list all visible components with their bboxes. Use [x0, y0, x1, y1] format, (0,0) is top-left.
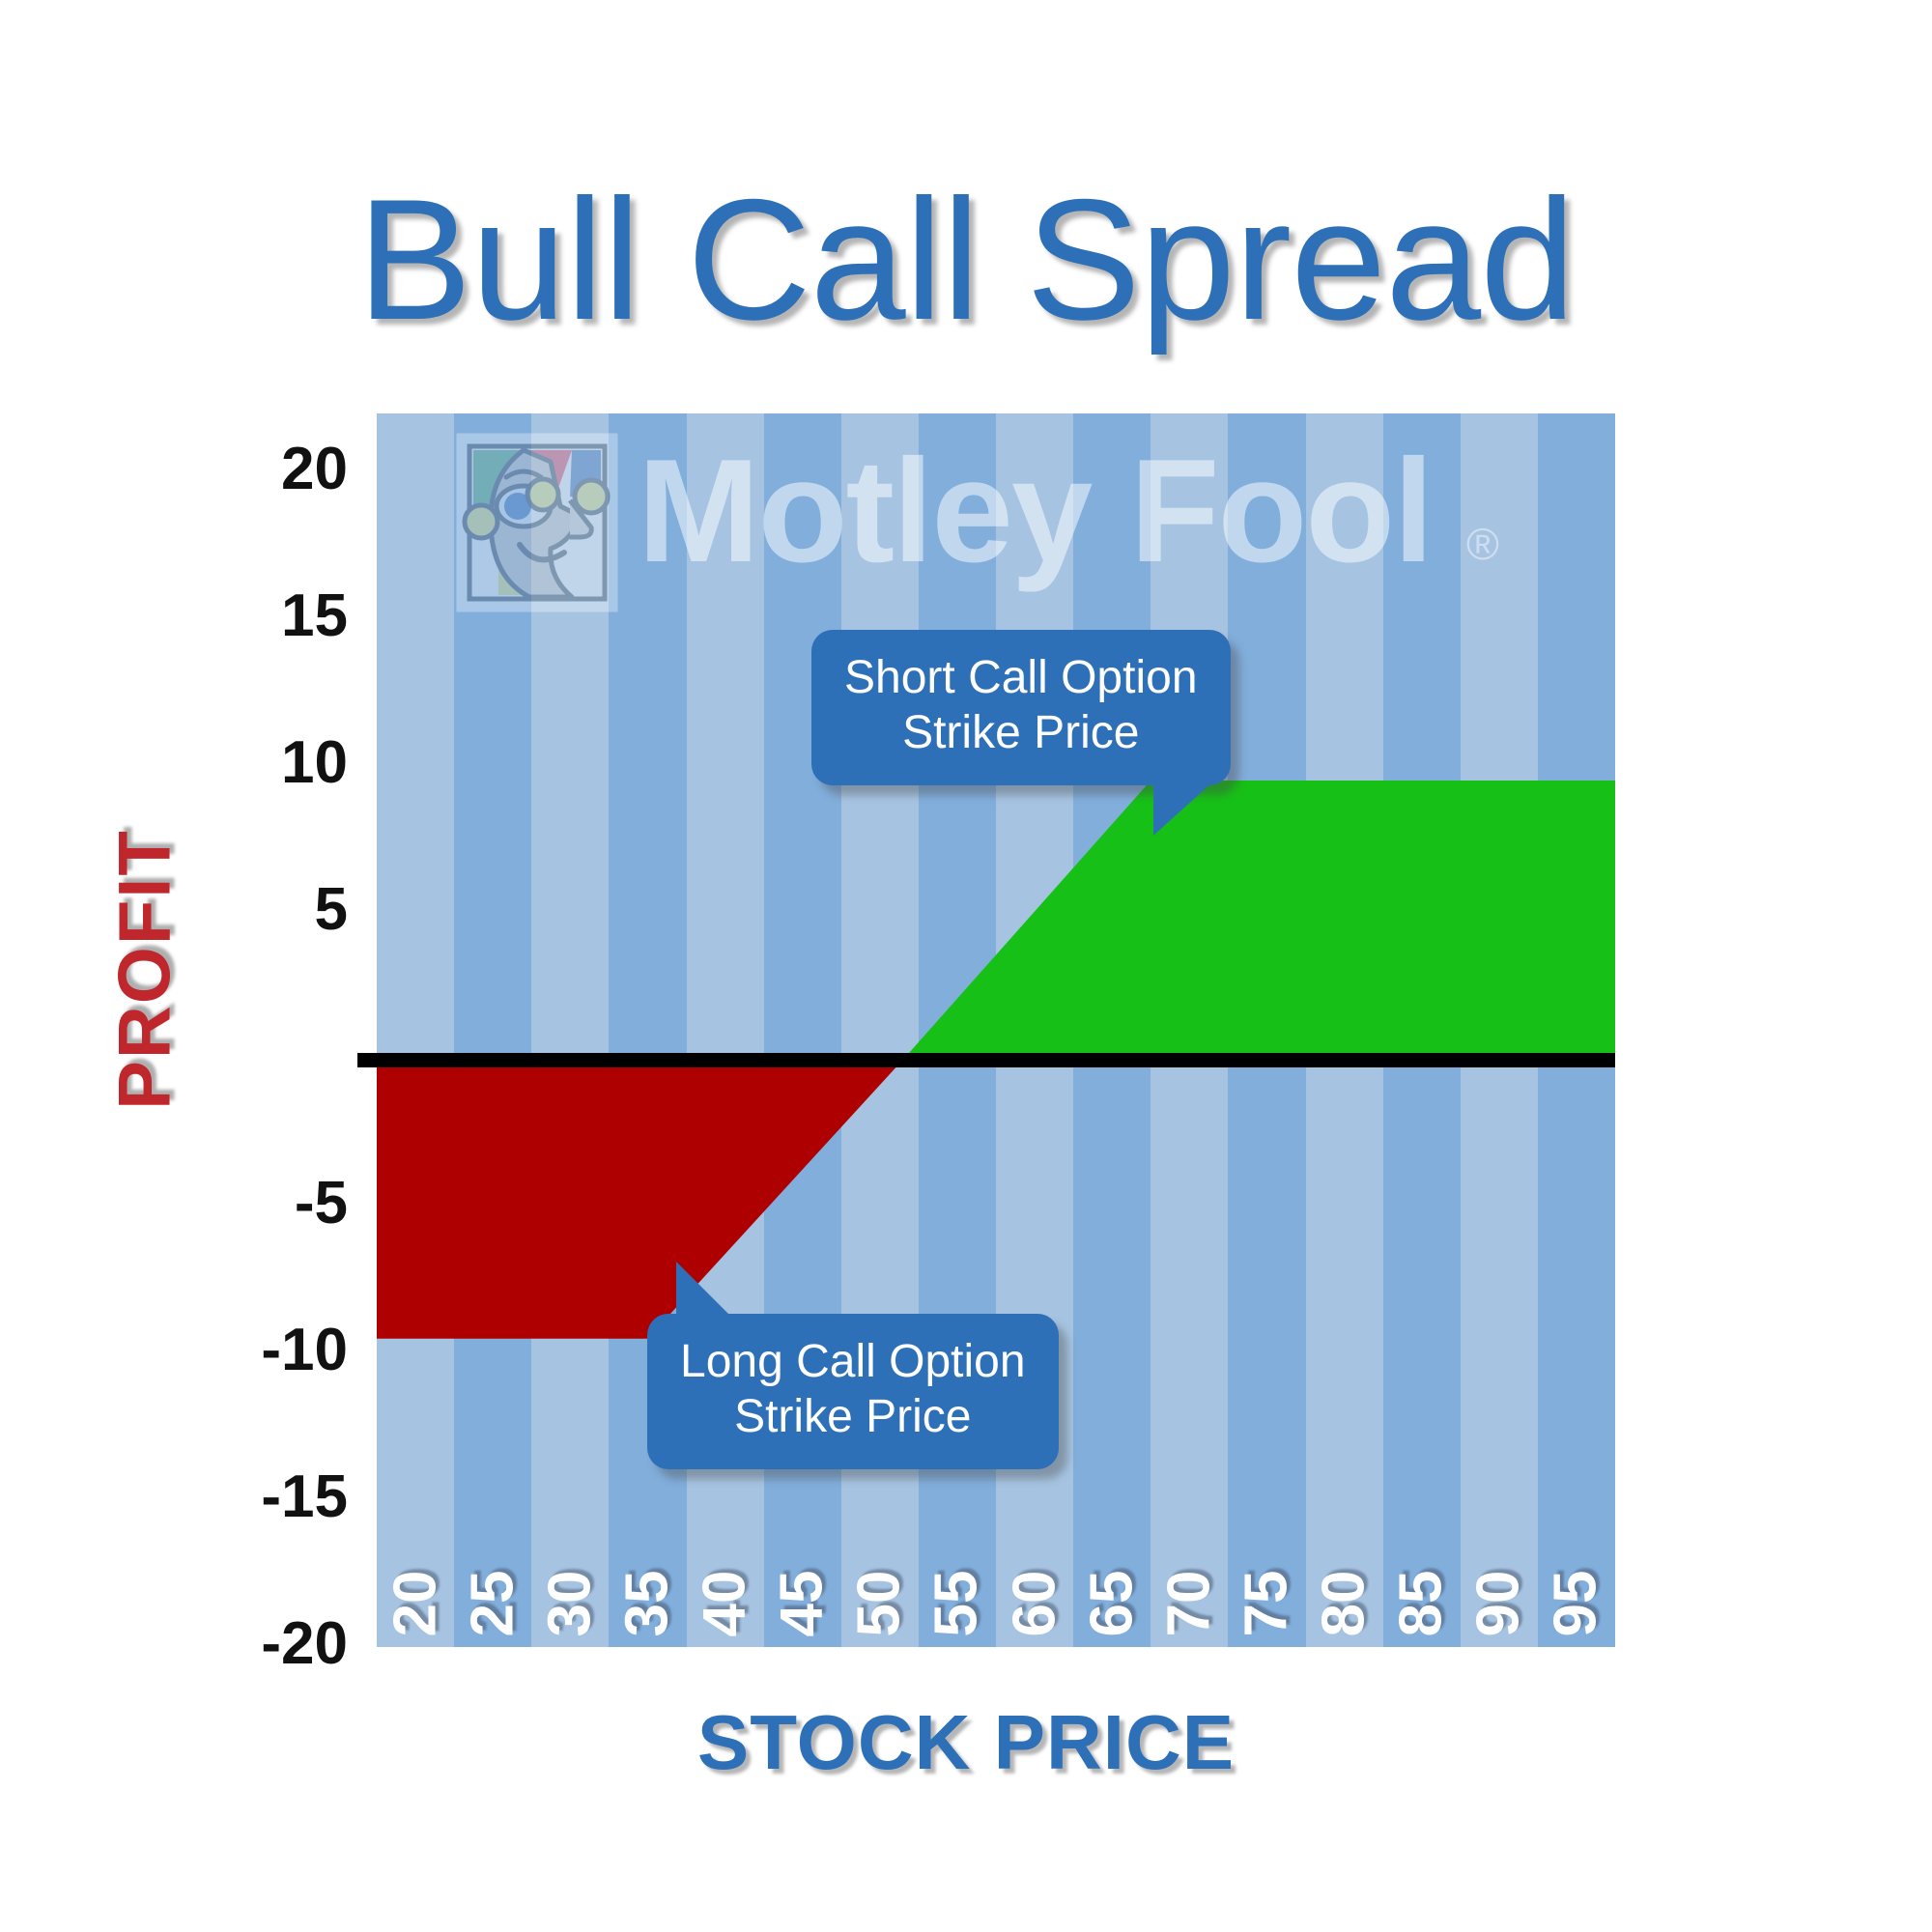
x-axis-tick-text: 25: [463, 1571, 523, 1637]
x-axis-tick-text: 30: [540, 1571, 600, 1637]
x-axis-tick-label: 80: [1306, 1574, 1383, 1634]
callout-tail-icon: [1153, 781, 1213, 836]
x-axis-tick-label: 40: [687, 1574, 764, 1634]
x-axis-tick-label: 35: [609, 1574, 686, 1634]
callout-long-line1: Long Call Option: [680, 1335, 1026, 1390]
callout-long-line2: Strike Price: [680, 1390, 1026, 1445]
x-axis-label: STOCK PRICE: [0, 1698, 1932, 1787]
y-axis-tick-label: -5: [193, 1174, 348, 1234]
x-axis-tick-label: 95: [1538, 1574, 1615, 1634]
y-axis-tick-label: -15: [193, 1467, 348, 1527]
callout-long-call[interactable]: Long Call Option Strike Price: [647, 1314, 1059, 1469]
x-axis-tick-text: 85: [1392, 1571, 1452, 1637]
loss-region: [377, 1060, 903, 1339]
x-axis-tick-label: 65: [1073, 1574, 1151, 1634]
x-axis-tick-label: 25: [454, 1574, 531, 1634]
chart-figure: Bull Call Spread: [0, 0, 1932, 1932]
x-axis-tick-text: 75: [1236, 1571, 1296, 1637]
callout-short-line1: Short Call Option: [844, 651, 1198, 706]
y-axis-tick-label: -20: [193, 1614, 348, 1674]
callout-short-line2: Strike Price: [844, 706, 1198, 761]
x-axis-tick-label: 20: [377, 1574, 454, 1634]
x-axis-tick-text: 60: [1005, 1571, 1065, 1637]
x-axis-tick-text: 70: [1159, 1571, 1219, 1637]
x-axis-tick-label: 30: [531, 1574, 609, 1634]
y-axis-label: PROFIT: [103, 767, 187, 1173]
x-axis-tick-text: 35: [617, 1571, 677, 1637]
y-axis-tick-label: 10: [193, 733, 348, 793]
x-axis-tick-text: 20: [385, 1571, 445, 1637]
x-axis-tick-label: 85: [1383, 1574, 1461, 1634]
y-axis-tick-label: 15: [193, 586, 348, 646]
callout-short-call[interactable]: Short Call Option Strike Price: [811, 630, 1231, 785]
profit-region: [903, 781, 1615, 1060]
y-axis-tick-label: 5: [193, 880, 348, 940]
x-axis-tick-text: 50: [850, 1571, 910, 1637]
x-axis-tick-text: 40: [696, 1571, 755, 1637]
x-axis-tick-label: 45: [764, 1574, 841, 1634]
x-axis-tick-text: 45: [773, 1571, 833, 1637]
chart-title: Bull Call Spread: [0, 174, 1932, 346]
x-axis-tick-text: 55: [927, 1571, 987, 1637]
x-axis-tick-text: 65: [1082, 1571, 1142, 1637]
x-axis-tick-label: 90: [1461, 1574, 1538, 1634]
y-axis-tick-label: 20: [193, 440, 348, 499]
callout-tail-icon: [676, 1262, 732, 1318]
x-axis-tick-label: 60: [996, 1574, 1073, 1634]
x-axis-tick-label: 55: [919, 1574, 996, 1634]
x-axis-tick-text: 80: [1315, 1571, 1375, 1637]
x-axis-tick-text: 90: [1469, 1571, 1529, 1637]
x-axis-tick-label: 50: [841, 1574, 919, 1634]
x-axis-tick-label: 75: [1228, 1574, 1305, 1634]
x-axis-tick-text: 95: [1547, 1571, 1606, 1637]
zero-profit-line: [357, 1053, 1615, 1067]
y-axis-tick-label: -10: [193, 1321, 348, 1380]
x-axis-tick-label: 70: [1151, 1574, 1228, 1634]
